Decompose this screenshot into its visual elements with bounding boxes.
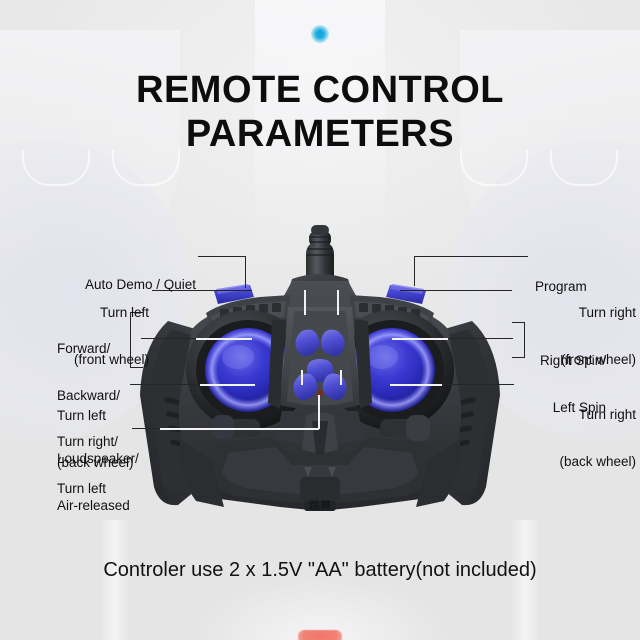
leader-program-h <box>414 256 528 257</box>
leader-right-spin-white <box>392 338 448 340</box>
page-title-line1: REMOTE CONTROL <box>136 69 504 111</box>
leader-program-v <box>414 256 415 286</box>
label-loudspeaker-air-released: Loudspeaker/ Air-released <box>57 420 167 544</box>
label-turn-right-back-wheel: Turn right (back wheel) <box>490 376 636 500</box>
page-title: REMOTE CONTROL PARAMETERS <box>0 68 640 156</box>
red-accent-strip <box>298 630 342 640</box>
leader-btn-br-v <box>340 370 342 385</box>
device-badge-text: 跳舞 <box>309 498 331 512</box>
leader-loudspeaker-v <box>318 395 320 429</box>
label-forward-backward-line1: Forward/ <box>57 341 137 357</box>
leader-turn-left-back-white <box>200 384 255 386</box>
label-turn-right-back-wheel-line1: Turn right <box>490 407 636 423</box>
led-indicator-icon <box>311 25 329 43</box>
battery-caption: Controler use 2 x 1.5V "AA" battery(not … <box>0 557 640 583</box>
leader-loudspeaker-white <box>160 428 319 430</box>
leader-btn-tr-v <box>337 290 339 315</box>
label-loudspeaker-line1: Loudspeaker/ <box>57 451 167 467</box>
page-title-line2: PARAMETERS <box>0 112 640 156</box>
label-loudspeaker-line2: Air-released <box>57 498 167 514</box>
leader-auto-demo-h <box>198 256 246 257</box>
leader-turn-right-back-white <box>390 384 442 386</box>
leader-forward-white <box>196 338 252 340</box>
leader-auto-demo-v <box>245 256 246 288</box>
label-right-spin-line1: Right Spin/ <box>490 353 606 369</box>
leader-btn-bl-v <box>301 370 303 385</box>
label-turn-right-back-wheel-line2: (back wheel) <box>490 454 636 470</box>
screenshot-canvas: REMOTE CONTROL PARAMETERS <box>0 0 640 640</box>
leader-btn-tl-v <box>304 290 306 315</box>
label-turn-right-front-wheel-line1: Turn right <box>490 305 636 321</box>
